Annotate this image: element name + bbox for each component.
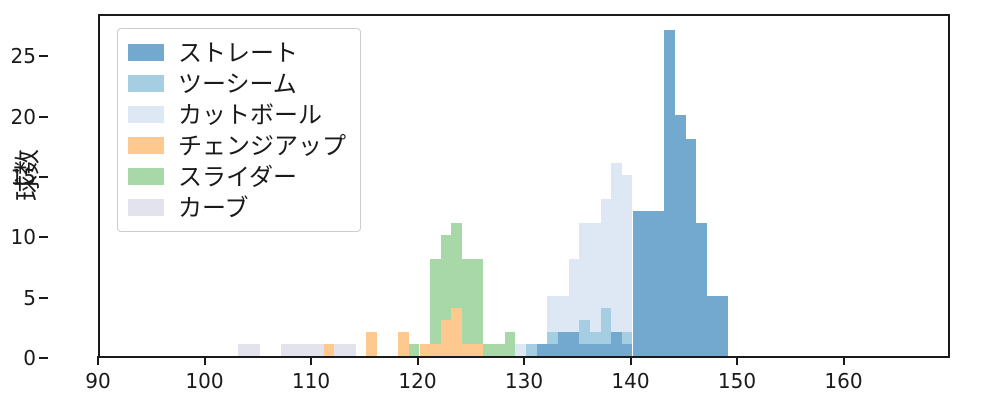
legend-label: カーブ: [178, 196, 249, 220]
x-tick-label: 150: [718, 369, 756, 393]
histogram-chart: 球数 0510152025 90100110120130140150160 スト…: [0, 0, 1000, 400]
histogram-bar: [526, 344, 537, 356]
y-tick-mark: [39, 55, 48, 57]
histogram-bar: [696, 223, 707, 356]
legend: ストレートツーシームカットボールチェンジアップスライダーカーブ: [117, 28, 361, 232]
histogram-bar: [441, 320, 452, 356]
y-tick-mark: [39, 176, 48, 178]
legend-swatch: [128, 44, 164, 61]
histogram-bar: [622, 175, 633, 356]
histogram-bar: [462, 344, 473, 356]
histogram-bar: [473, 259, 484, 356]
x-tick-mark: [310, 356, 312, 365]
legend-item[interactable]: スライダー: [128, 161, 346, 192]
x-tick-mark: [417, 356, 419, 365]
y-tick-label: 20: [11, 105, 36, 129]
x-tick-mark: [97, 356, 99, 365]
legend-label: ツーシーム: [178, 72, 297, 96]
legend-swatch: [128, 137, 164, 154]
histogram-bar: [366, 332, 377, 356]
legend-label: チェンジアップ: [178, 134, 346, 158]
y-axis: 球数 0510152025: [0, 0, 98, 400]
histogram-bar: [707, 296, 718, 356]
histogram-bar: [515, 344, 526, 356]
histogram-bar: [292, 344, 303, 356]
x-tick-mark: [843, 356, 845, 365]
histogram-bar: [547, 344, 558, 356]
histogram-bar: [643, 211, 654, 356]
y-tick-label: 15: [11, 165, 36, 189]
legend-item[interactable]: カーブ: [128, 192, 346, 223]
x-tick-label: 130: [505, 369, 543, 393]
legend-item[interactable]: チェンジアップ: [128, 130, 346, 161]
histogram-bar: [483, 344, 494, 356]
histogram-bar: [579, 344, 590, 356]
legend-swatch: [128, 168, 164, 185]
x-tick-label: 100: [185, 369, 223, 393]
x-axis: 90100110120130140150160: [0, 356, 1000, 400]
histogram-bar: [451, 308, 462, 356]
histogram-bar: [430, 259, 441, 356]
histogram-bar: [430, 344, 441, 356]
histogram-bar: [281, 344, 292, 356]
histogram-bar: [686, 139, 697, 356]
x-tick-mark: [204, 356, 206, 365]
histogram-bar: [569, 332, 580, 356]
x-tick-label: 140: [611, 369, 649, 393]
histogram-bar: [398, 332, 409, 356]
y-tick-mark: [39, 297, 48, 299]
histogram-bar: [601, 344, 612, 356]
histogram-bar: [462, 259, 473, 356]
histogram-bar: [473, 344, 484, 356]
x-tick-mark: [523, 356, 525, 365]
histogram-bar: [664, 30, 675, 356]
legend-item[interactable]: ストレート: [128, 37, 346, 68]
histogram-bar: [238, 344, 249, 356]
legend-swatch: [128, 106, 164, 123]
x-tick-mark: [630, 356, 632, 365]
legend-swatch: [128, 199, 164, 216]
histogram-bar: [633, 211, 644, 356]
x-tick-mark: [736, 356, 738, 365]
legend-swatch: [128, 75, 164, 92]
legend-item[interactable]: ツーシーム: [128, 68, 346, 99]
histogram-bar: [334, 344, 345, 356]
histogram-bar: [409, 344, 420, 356]
histogram-bar: [537, 344, 548, 356]
legend-label: スライダー: [178, 165, 297, 189]
histogram-bar: [345, 344, 356, 356]
histogram-bar: [494, 344, 505, 356]
histogram-bar: [718, 296, 729, 356]
histogram-bar: [611, 163, 622, 356]
histogram-bar: [249, 344, 260, 356]
legend-item[interactable]: カットボール: [128, 99, 346, 130]
histogram-bar: [302, 344, 313, 356]
histogram-bar: [420, 344, 431, 356]
histogram-bar: [505, 332, 516, 356]
y-tick-mark: [39, 236, 48, 238]
histogram-bar: [313, 344, 324, 356]
histogram-bar: [558, 332, 569, 356]
y-tick-label: 5: [23, 286, 36, 310]
histogram-bar: [324, 344, 335, 356]
x-tick-label: 160: [824, 369, 862, 393]
y-tick-label: 10: [11, 225, 36, 249]
histogram-bar: [654, 211, 665, 356]
x-tick-label: 90: [85, 369, 110, 393]
histogram-bar: [611, 332, 622, 356]
legend-label: ストレート: [178, 41, 298, 65]
x-tick-label: 120: [398, 369, 436, 393]
x-tick-label: 110: [292, 369, 330, 393]
histogram-bar: [622, 344, 633, 356]
histogram-bar: [675, 115, 686, 356]
histogram-bar: [590, 344, 601, 356]
y-tick-label: 25: [11, 44, 36, 68]
y-tick-mark: [39, 116, 48, 118]
legend-label: カットボール: [178, 103, 322, 127]
